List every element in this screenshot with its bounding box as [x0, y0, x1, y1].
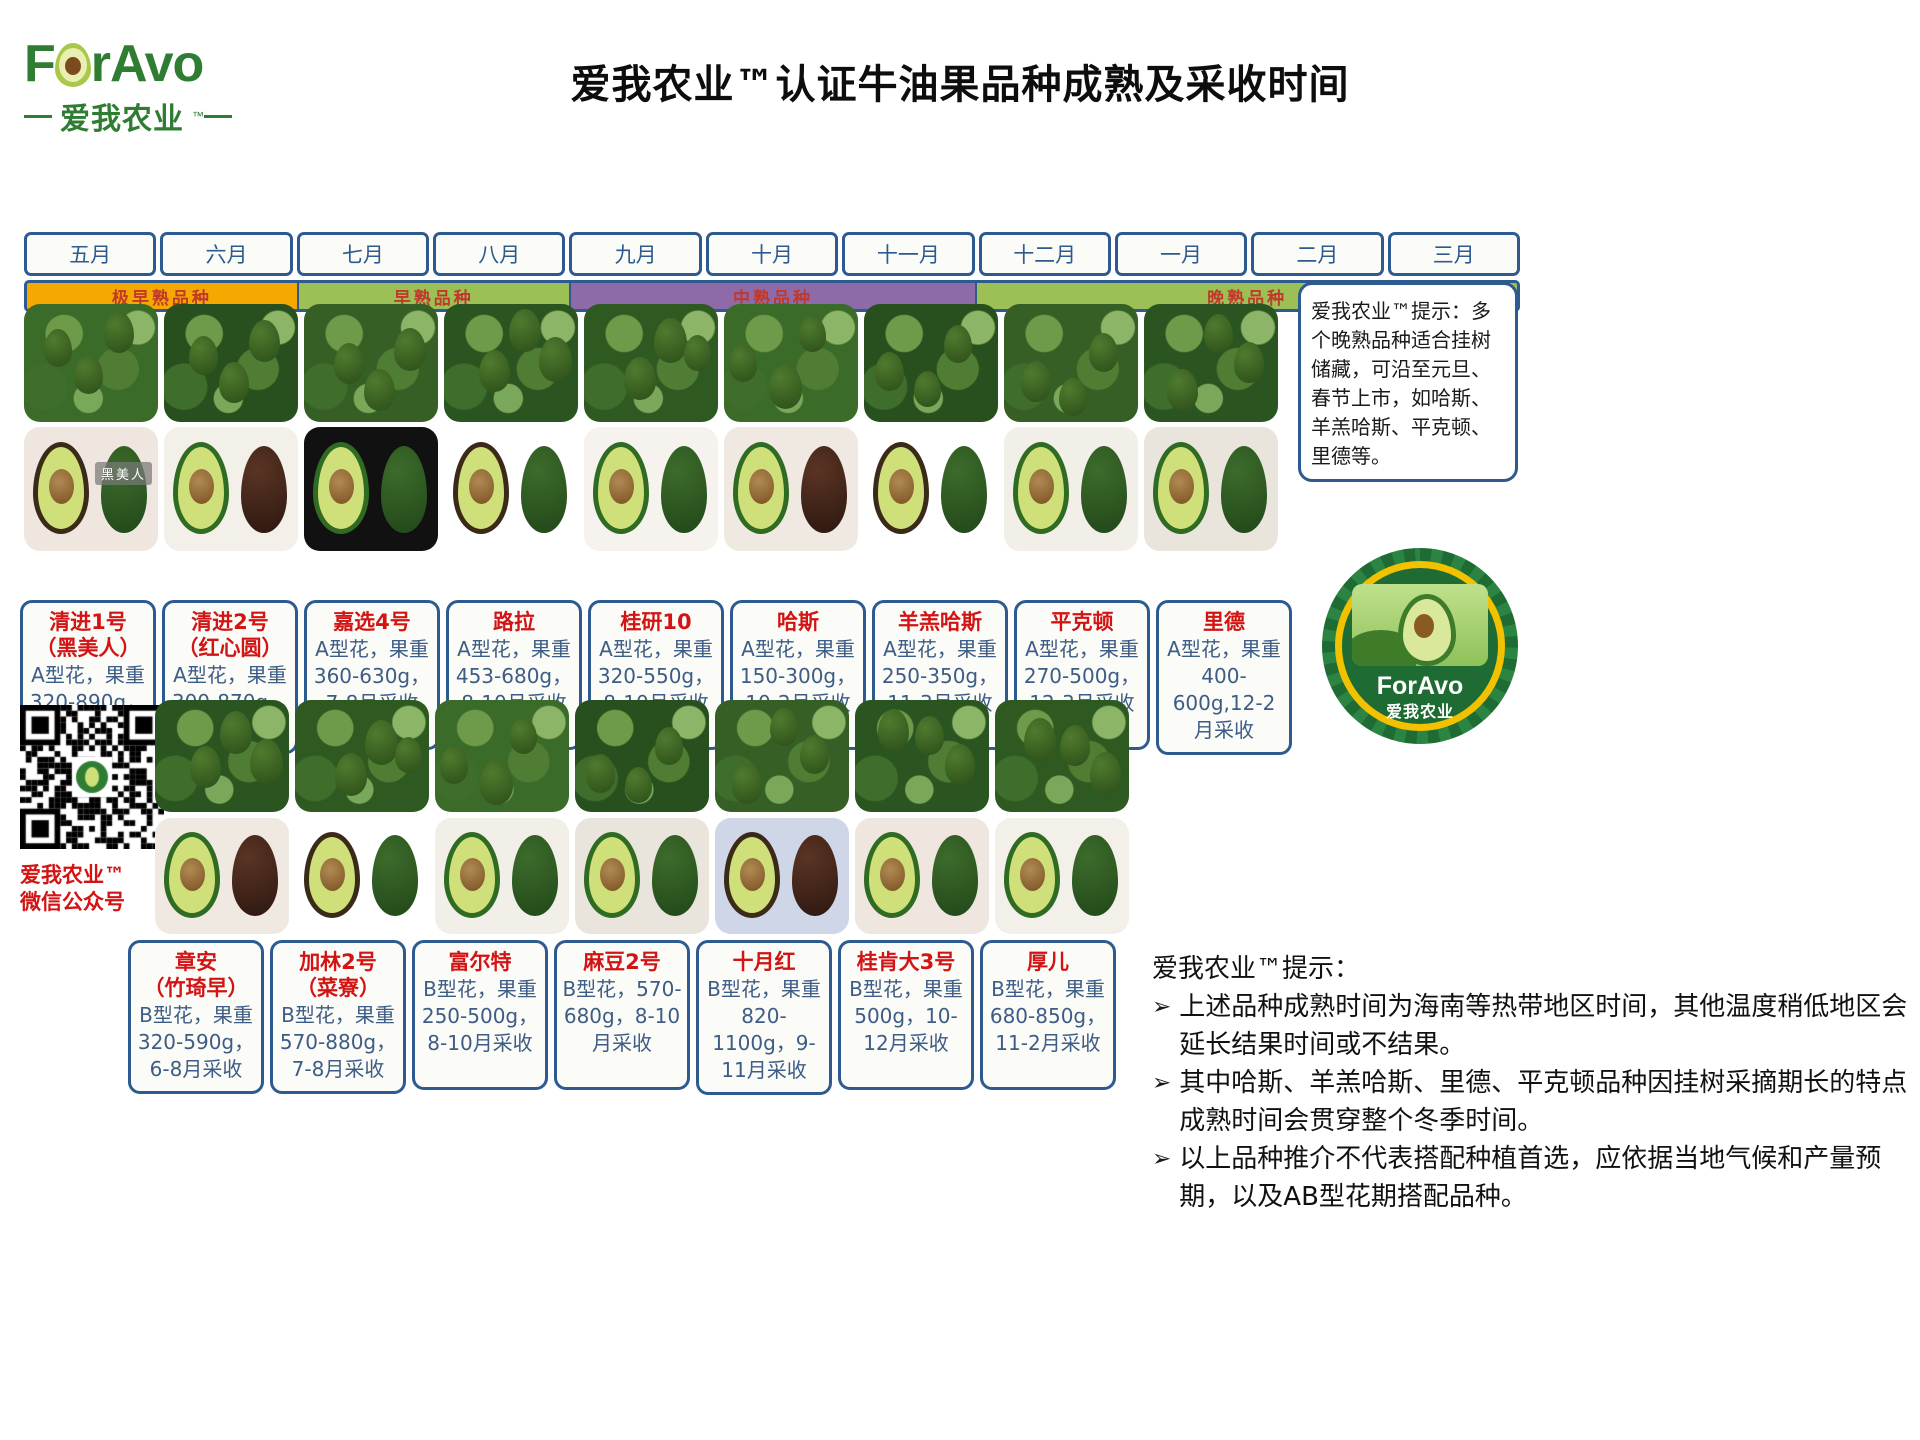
month-cell-1: 五月 — [24, 232, 156, 276]
avocado-whole-shape — [232, 835, 278, 916]
avocado-whole-shape — [381, 446, 427, 533]
variety-description: B型花，果重570-880g，7-8月采收 — [277, 1002, 399, 1083]
avocado-fruit-shape — [800, 735, 829, 774]
avocado-fruit-shape — [1024, 718, 1056, 761]
variety-description: A型花，果重400-600g,12-2月采收 — [1163, 636, 1285, 744]
avocado-fruit-shape — [770, 708, 798, 746]
variety-name: 十月红 — [703, 949, 825, 975]
avocado-pit-shape — [460, 858, 485, 891]
avocado-pit-shape — [740, 858, 765, 891]
notes-heading: 爱我农业™提示： — [1152, 950, 1912, 988]
avocado-fruit-shape — [1204, 314, 1233, 353]
infographic-page: F rAvo 爱我农业 ™ 爱我农业™认证牛油果品种成熟及采收时间 五月六月七月… — [0, 0, 1920, 1440]
avocado-whole-shape — [521, 446, 567, 533]
variety-name: 羊羔哈斯 — [879, 609, 1001, 635]
row-b-tree-photos — [155, 700, 1129, 812]
month-cell-9: 一月 — [1115, 232, 1247, 276]
avocado-fruit-shape — [1234, 342, 1264, 383]
avocado-pit-shape — [749, 469, 774, 504]
avocado-whole-shape — [372, 835, 418, 916]
avocado-fruit-shape — [769, 364, 802, 409]
avocado-pit-shape — [49, 469, 74, 504]
variety-card-row-b: 章安（竹琦早）B型花，果重320-590g，6-8月采收加林2号（菜寮）B型花，… — [128, 940, 1116, 1095]
avocado-fruit-shape — [1060, 725, 1090, 766]
variety-name: 桂肯大3号 — [845, 949, 967, 975]
avocado-fruit-shape — [1090, 752, 1121, 794]
avocado-fruit-shape — [440, 746, 468, 784]
logo-chinese-name: 爱我农业 — [60, 94, 184, 138]
avocado-fruit-shape — [732, 763, 762, 804]
logo-letters-ravo: rAvo — [91, 36, 204, 92]
variety-description: B型花，570-680g，8-10月采收 — [561, 976, 683, 1057]
logo-rule-right — [204, 115, 232, 118]
bullet-arrow-icon: ➢ — [1152, 1140, 1171, 1216]
avocado-pit-shape — [1020, 858, 1045, 891]
avocado-fruit-shape — [190, 746, 221, 788]
avocado-fruit-shape — [586, 754, 615, 793]
month-cell-4: 八月 — [433, 232, 565, 276]
seal-wordmark: ForAvo — [1322, 672, 1518, 701]
variety-card[interactable]: 富尔特B型花，果重250-500g，8-10月采收 — [412, 940, 548, 1090]
variety-card[interactable]: 十月红B型花，果重820-1100g，9-11月采收 — [696, 940, 832, 1095]
avocado-fruit-shape — [335, 753, 367, 796]
avocado-fruit-shape — [624, 357, 656, 400]
avocado-whole-shape — [652, 835, 698, 916]
variety-name: 里德 — [1163, 609, 1285, 635]
avocado-fruit-shape — [395, 737, 422, 773]
variety-name: 清进2号 — [169, 609, 291, 635]
variety-name: 哈斯 — [737, 609, 859, 635]
avocado-fruit-shape — [654, 318, 687, 363]
avocado-icon — [53, 41, 93, 87]
photo-caption-tag: 黑美人 — [95, 462, 152, 485]
certification-seal: ForAvo 爱我农业 — [1322, 548, 1518, 744]
avocado-fruit-shape — [104, 312, 134, 353]
avocado-whole-shape — [241, 446, 287, 533]
avocado-fruit-shape — [655, 727, 683, 765]
avocado-pit-shape — [600, 858, 625, 891]
month-cell-7: 十一月 — [842, 232, 974, 276]
season-timeline: 五月六月七月八月九月十月十一月十二月一月二月三月 极早熟品种早熟品种中熟品种晚熟… — [24, 232, 1520, 312]
avocado-fruit-shape — [334, 343, 364, 384]
avocado-fruit-shape — [878, 709, 909, 751]
note-text: 上述品种成熟时间为海南等热带地区时间，其他温度稍低地区会延长结果时间或不结果。 — [1179, 988, 1912, 1064]
logo-letter-f: F — [24, 36, 55, 92]
seal-chinese-name: 爱我农业 — [1322, 698, 1518, 722]
month-cell-10: 二月 — [1251, 232, 1383, 276]
wechat-qr-block: 爱我农业™ 微信公众号 — [20, 705, 170, 916]
avocado-fruit-shape — [249, 320, 280, 362]
avocado-fruit-shape — [479, 350, 510, 392]
notes-list: ➢上述品种成熟时间为海南等热带地区时间，其他温度稍低地区会延长结果时间或不结果。… — [1152, 988, 1912, 1216]
avocado-pit-shape — [320, 858, 345, 891]
avocado-fruit-shape — [945, 744, 975, 785]
qr-caption-line1: 爱我农业™ — [20, 862, 170, 889]
row-a-fruit-photos: 黑美人 — [24, 427, 1278, 551]
month-cell-6: 十月 — [706, 232, 838, 276]
avocado-whole-shape — [101, 446, 147, 533]
month-cell-8: 十二月 — [979, 232, 1111, 276]
avocado-fruit-shape — [220, 711, 252, 754]
avocado-fruit-shape — [625, 767, 652, 803]
avocado-whole-shape — [1081, 446, 1127, 533]
month-cell-3: 七月 — [297, 232, 429, 276]
month-cell-2: 六月 — [160, 232, 292, 276]
row-a-tree-photos — [24, 304, 1278, 422]
logo-wordmark: F rAvo — [24, 36, 294, 92]
variety-name: 嘉选4号 — [311, 609, 433, 635]
variety-name: 路拉 — [453, 609, 575, 635]
avocado-pit-shape — [189, 469, 214, 504]
avocado-fruit-shape — [250, 739, 283, 784]
brand-logo: F rAvo 爱我农业 ™ — [24, 36, 294, 136]
avocado-whole-shape — [1221, 446, 1267, 533]
variety-description: B型花，果重250-500g，8-10月采收 — [419, 976, 541, 1057]
avocado-fruit-shape — [394, 328, 426, 371]
avocado-fruit-shape — [365, 720, 398, 765]
variety-name: 桂研10 — [595, 609, 717, 635]
variety-alias: （菜寮） — [277, 975, 399, 1001]
variety-card[interactable]: 里德A型花，果重400-600g,12-2月采收 — [1156, 600, 1292, 755]
variety-card[interactable]: 加林2号（菜寮）B型花，果重570-880g，7-8月采收 — [270, 940, 406, 1094]
avocado-pit-shape — [1029, 469, 1054, 504]
avocado-pit-shape — [889, 469, 914, 504]
avocado-whole-shape — [941, 446, 987, 533]
variety-name: 麻豆2号 — [561, 949, 683, 975]
avocado-fruit-shape — [189, 336, 218, 375]
avocado-fruit-shape — [510, 718, 537, 754]
avocado-fruit-shape — [480, 760, 513, 805]
avocado-pit-shape — [609, 469, 634, 504]
row-b-fruit-photos — [155, 818, 1129, 934]
avocado-whole-shape — [792, 835, 838, 916]
avocado-fruit-shape — [509, 309, 541, 352]
variety-name: 富尔特 — [419, 949, 541, 975]
variety-card[interactable]: 麻豆2号B型花，570-680g，8-10月采收 — [554, 940, 690, 1090]
variety-alias: （黑美人） — [27, 635, 149, 661]
note-text: 其中哈斯、羊羔哈斯、里德、平克顿品种因挂树采摘期长的特点成熟时间会贯穿整个冬季时… — [1179, 1064, 1912, 1140]
avocado-pit-shape — [1169, 469, 1194, 504]
avocado-whole-shape — [801, 446, 847, 533]
variety-description: B型花，果重320-590g，6-8月采收 — [135, 1002, 257, 1083]
variety-name: 加林2号 — [277, 949, 399, 975]
bullet-arrow-icon: ➢ — [1152, 1064, 1171, 1140]
avocado-fruit-shape — [364, 369, 395, 411]
avocado-pit-shape — [329, 469, 354, 504]
variety-alias: （红心圆） — [169, 635, 291, 661]
variety-name: 平克顿 — [1021, 609, 1143, 635]
avocado-pit-shape — [880, 858, 905, 891]
page-title: 爱我农业™认证牛油果品种成熟及采收时间 — [400, 52, 1520, 110]
variety-name: 厚儿 — [987, 949, 1109, 975]
note-item: ➢上述品种成熟时间为海南等热带地区时间，其他温度稍低地区会延长结果时间或不结果。 — [1152, 988, 1912, 1064]
avocado-fruit-shape — [1021, 361, 1051, 402]
avocado-pit-shape — [180, 858, 205, 891]
note-item: ➢其中哈斯、羊羔哈斯、里德、平克顿品种因挂树采摘期长的特点成熟时间会贯穿整个冬季… — [1152, 1064, 1912, 1140]
variety-name: 章安 — [135, 949, 257, 975]
logo-rule-left — [24, 115, 52, 118]
note-text: 以上品种推介不代表搭配种植首选，应依据当地气候和产量预期，以及AB型花期搭配品种… — [1179, 1140, 1912, 1216]
avocado-whole-shape — [932, 835, 978, 916]
avocado-fruit-shape — [875, 352, 904, 391]
variety-name: 清进1号 — [27, 609, 149, 635]
month-cell-11: 三月 — [1388, 232, 1520, 276]
qr-caption-line2: 微信公众号 — [20, 889, 170, 916]
avocado-fruit-shape — [684, 335, 711, 371]
avocado-whole-shape — [512, 835, 558, 916]
avocado-fruit-shape — [219, 362, 249, 403]
avocado-fruit-shape — [914, 371, 941, 407]
variety-description: B型花，果重500g，10-12月采收 — [845, 976, 967, 1057]
avocado-fruit-shape — [799, 316, 826, 352]
variety-card[interactable]: 厚儿B型花，果重680-850g，11-2月采收 — [980, 940, 1116, 1090]
avocado-fruit-shape — [915, 716, 944, 755]
avocado-whole-shape — [1072, 835, 1118, 916]
month-row: 五月六月七月八月九月十月十一月十二月一月二月三月 — [24, 232, 1520, 276]
logo-tm-mark: ™ — [192, 109, 204, 123]
storage-tip-box: 爱我农业™提示：多个晚熟品种适合挂树储藏，可沿至元旦、春节上市，如哈斯、羊羔哈斯… — [1298, 282, 1518, 482]
variety-description: B型花，果重820-1100g，9-11月采收 — [703, 976, 825, 1084]
seal-avocado-illustration — [1352, 584, 1488, 666]
qr-code-image — [20, 705, 164, 849]
bullet-arrow-icon: ➢ — [1152, 988, 1171, 1064]
note-item: ➢以上品种推介不代表搭配种植首选，应依据当地气候和产量预期，以及AB型花期搭配品… — [1152, 1140, 1912, 1216]
avocado-fruit-shape — [944, 325, 972, 363]
month-cell-5: 九月 — [569, 232, 701, 276]
variety-alias: （竹琦早） — [135, 975, 257, 1001]
avocado-fruit-shape — [44, 329, 72, 367]
avocado-fruit-shape — [1059, 378, 1087, 416]
variety-card[interactable]: 桂肯大3号B型花，果重500g，10-12月采收 — [838, 940, 974, 1090]
avocado-fruit-shape — [729, 344, 757, 382]
avocado-fruit-shape — [74, 355, 103, 394]
variety-description: B型花，果重680-850g，11-2月采收 — [987, 976, 1109, 1057]
avocado-fruit-shape — [539, 337, 572, 382]
logo-subline: 爱我农业 ™ — [24, 94, 294, 138]
footer-notes: 爱我农业™提示： ➢上述品种成熟时间为海南等热带地区时间，其他温度稍低地区会延长… — [1152, 950, 1912, 1216]
variety-card[interactable]: 章安（竹琦早）B型花，果重320-590g，6-8月采收 — [128, 940, 264, 1094]
avocado-fruit-shape — [1167, 369, 1198, 411]
avocado-fruit-shape — [1089, 333, 1118, 372]
avocado-whole-shape — [661, 446, 707, 533]
avocado-pit-shape — [469, 469, 494, 504]
